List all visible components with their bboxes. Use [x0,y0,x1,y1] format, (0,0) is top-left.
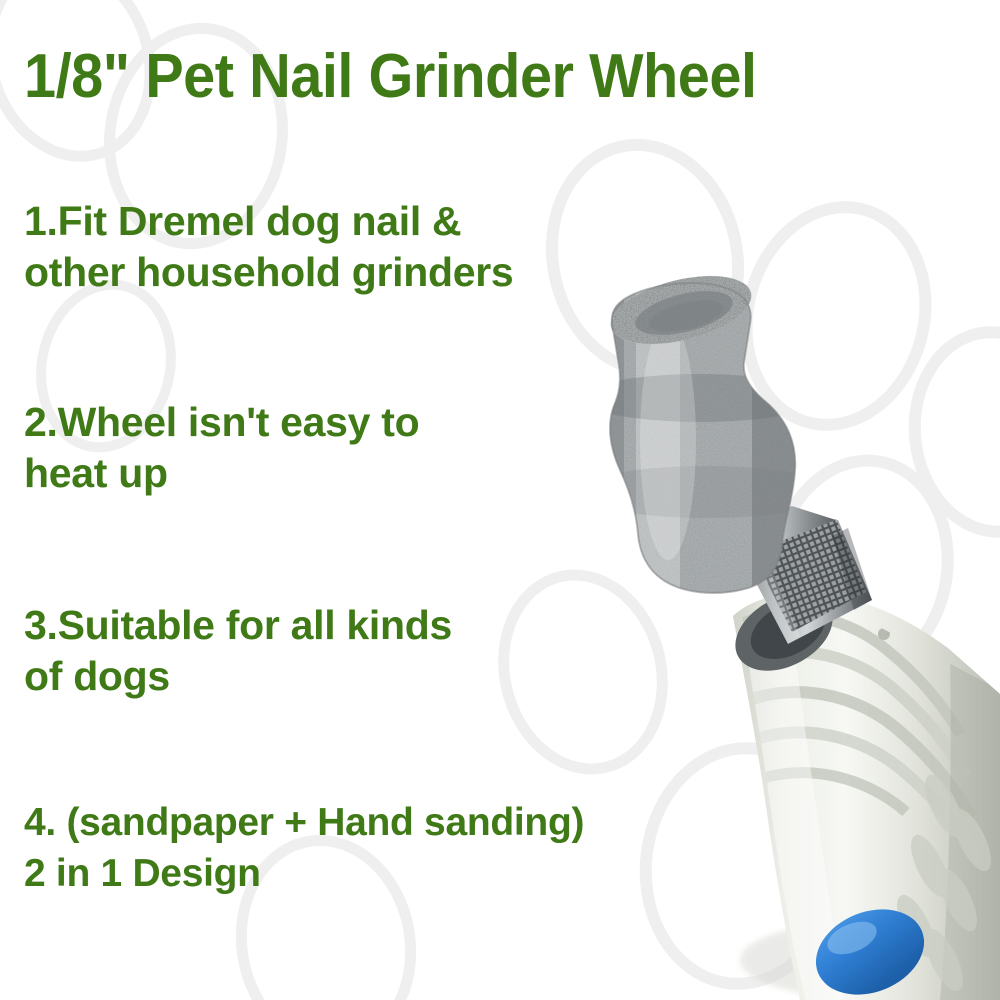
feature-item-3: 3.Suitable for all kinds of dogs [24,600,844,702]
product-infographic: 1/8" Pet Nail Grinder Wheel 1.Fit Dremel… [0,0,1000,1000]
feature-item-4: 4. (sandpaper + Hand sanding) 2 in 1 Des… [24,797,904,899]
page-title: 1/8" Pet Nail Grinder Wheel [24,44,917,110]
text-content: 1/8" Pet Nail Grinder Wheel 1.Fit Dremel… [0,0,1000,1000]
feature-item-1: 1.Fit Dremel dog nail & other household … [24,196,844,298]
feature-item-2: 2.Wheel isn't easy to heat up [24,397,844,499]
